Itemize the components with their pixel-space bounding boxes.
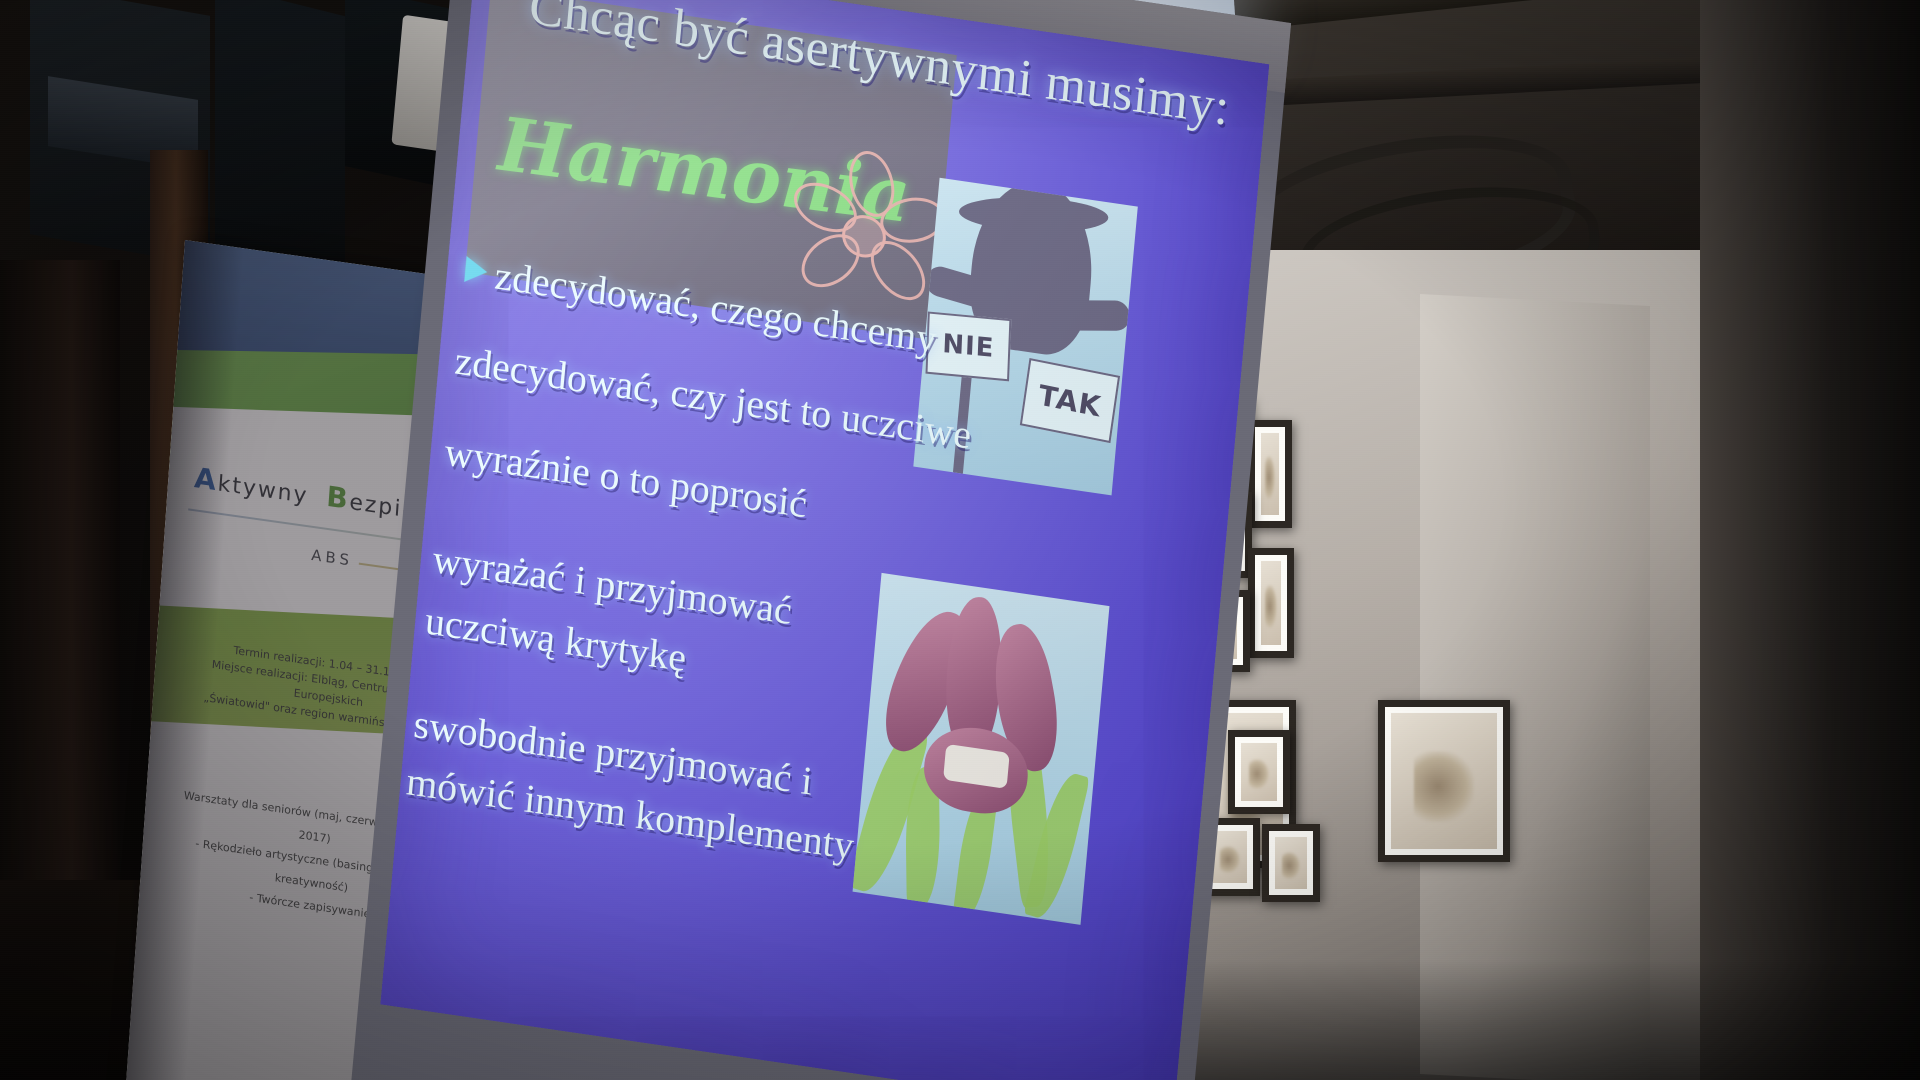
wall-shadow [1180,960,1920,1080]
slide-image-orchid [853,573,1110,925]
figure-arm [1047,300,1130,331]
slide-bullet-item: wyraźnie o to poprosić [443,431,809,526]
presentation-slide: Harmonia NIE TAK [380,0,1269,1080]
framed-artwork [1378,700,1510,862]
framed-artwork [1248,420,1292,528]
triangle-bullet-icon [464,256,488,285]
slide-bullet-text: wyraźnie o to poprosić [443,429,809,527]
framed-artwork [1228,730,1290,814]
sign-nie: NIE [925,311,1011,381]
framed-artwork [1248,548,1294,658]
dark-room-right-region [1700,0,1920,1080]
room-scene-photo: Aktywny Bezpieczny Senior ABS Termin rea… [0,0,1920,1080]
slide-bullet-item: zdecydować, czy jest to uczciwe [453,339,973,457]
projection-screen: Harmonia NIE TAK [196,0,1252,1080]
framed-artwork [1262,824,1320,902]
sign-tak: TAK [1020,358,1120,443]
